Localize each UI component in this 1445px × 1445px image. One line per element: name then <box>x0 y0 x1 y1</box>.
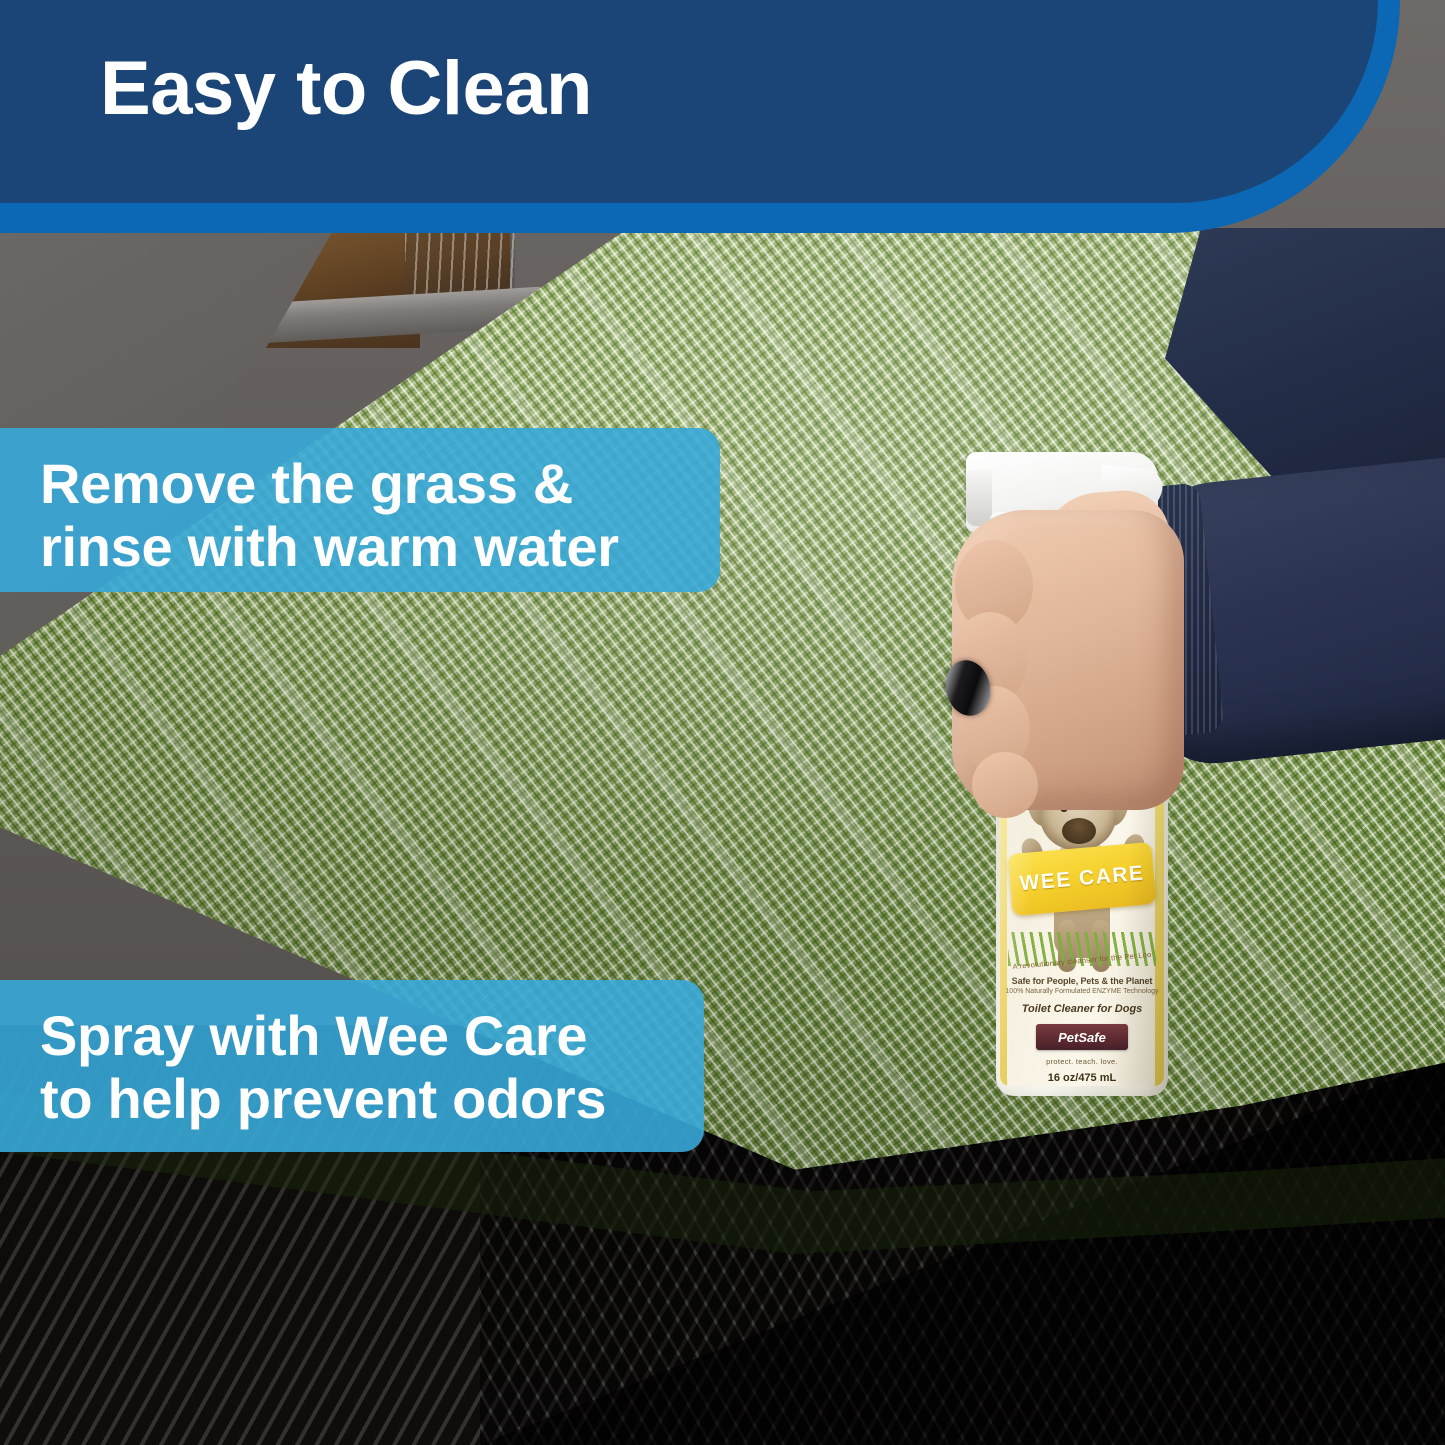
callout-spray-wee-care: Spray with Wee Care to help prevent odor… <box>0 980 704 1152</box>
callout-1-line-1: Remove the grass & <box>40 452 674 515</box>
header-banner: Easy to Clean <box>0 0 1445 236</box>
wee-care-banner: WEE CARE <box>1008 842 1157 916</box>
product-feature-poster: WEE CARE A revolutionary cleanser for th… <box>0 0 1445 1445</box>
label-bottom-block: Safe for People, Pets & the Planet 100% … <box>1000 972 1164 1084</box>
company-motto: protect. teach. love. <box>1000 1057 1164 1066</box>
brand-name: WEE CARE <box>1019 862 1146 897</box>
petsafe-logo: PetSafe <box>1036 1024 1128 1050</box>
product-label: WEE CARE A revolutionary cleanser for th… <box>1000 770 1164 1086</box>
callout-remove-grass: Remove the grass & rinse with warm water <box>0 428 720 592</box>
petsafe-wordmark: PetSafe <box>1058 1030 1106 1045</box>
product-descriptor: Toilet Cleaner for Dogs <box>1000 1003 1164 1015</box>
product-claim-2: 100% Naturally Formulated ENZYME Technol… <box>1000 988 1164 995</box>
page-title: Easy to Clean <box>100 51 592 127</box>
product-claim-1: Safe for People, Pets & the Planet <box>1000 976 1164 986</box>
callout-2-line-1: Spray with Wee Care <box>40 1004 658 1067</box>
finger-4 <box>972 752 1038 818</box>
callout-1-line-2: rinse with warm water <box>40 515 674 578</box>
dog-snout <box>1062 818 1096 844</box>
product-volume: 16 oz/475 mL <box>1000 1072 1164 1084</box>
callout-2-line-2: to help prevent odors <box>40 1067 658 1130</box>
spray-trigger-notch <box>966 470 992 526</box>
